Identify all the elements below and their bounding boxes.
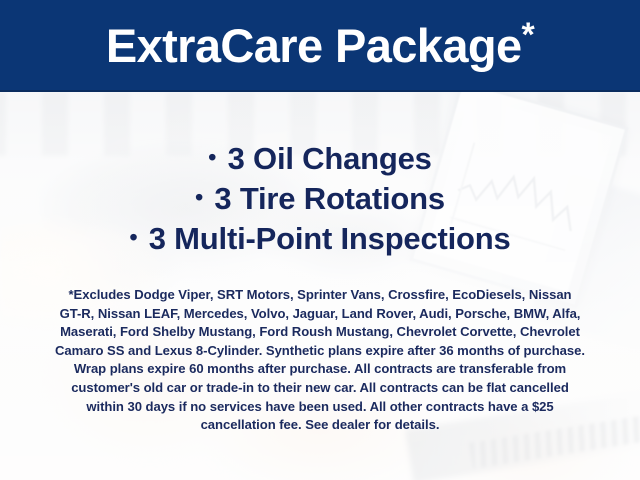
bullet-dot-icon: • [208,144,219,170]
page-title-text: ExtraCare Package [106,19,522,72]
extracare-package-banner: ExtraCare Package* • 3 Oil Changes • 3 T… [0,0,640,480]
page-title-asterisk: * [522,16,535,54]
disclaimer-line: cancellation fee. See dealer for details… [28,416,612,435]
list-item: • 3 Oil Changes [0,138,640,178]
header-bar: ExtraCare Package* [0,0,640,92]
disclaimer-line: GT-R, Nissan LEAF, Mercedes, Volvo, Jagu… [28,305,612,324]
bullet-dot-icon: • [195,184,206,210]
disclaimer-line: Camaro SS and Lexus 8-Cylinder. Syntheti… [28,342,612,361]
page-title: ExtraCare Package* [106,18,534,73]
disclaimer-line: *Excludes Dodge Viper, SRT Motors, Sprin… [28,286,612,305]
list-item-label: 3 Multi-Point Inspections [149,221,511,256]
disclaimer-line: customer's old car or trade-in to their … [28,379,612,398]
disclaimer-line: Wrap plans expire 60 months after purcha… [28,360,612,379]
list-item-label: 3 Oil Changes [228,141,432,176]
benefits-list: • 3 Oil Changes • 3 Tire Rotations • 3 M… [0,138,640,258]
list-item: • 3 Tire Rotations [0,178,640,218]
disclaimer-line: Maserati, Ford Shelby Mustang, Ford Rous… [28,323,612,342]
disclaimer-line: within 30 days if no services have been … [28,398,612,417]
list-item-label: 3 Tire Rotations [214,181,445,216]
bullet-dot-icon: • [129,224,140,250]
list-item: • 3 Multi-Point Inspections [0,218,640,258]
disclaimer-text: *Excludes Dodge Viper, SRT Motors, Sprin… [28,286,612,435]
